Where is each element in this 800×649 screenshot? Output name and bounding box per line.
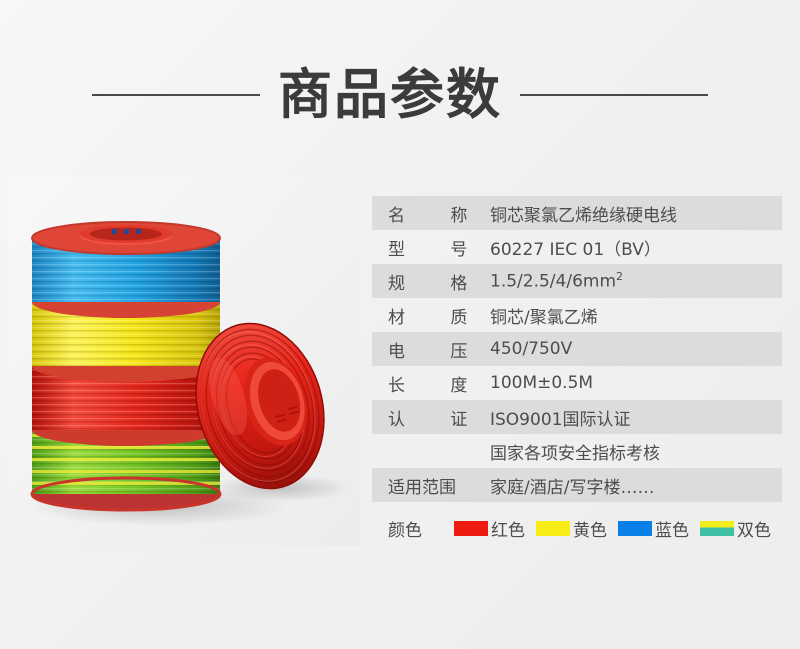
spec-label-model: 型 号 <box>372 235 490 260</box>
spec-label-material: 材 质 <box>372 303 490 328</box>
table-row: 适用范围 家庭/酒店/写字楼…… <box>372 468 782 502</box>
spec-label-length: 长 度 <box>372 371 490 396</box>
table-row: 国家各项安全指标考核 <box>372 434 782 468</box>
spec-value-name: 铜芯聚氯乙烯绝缘硬电线 <box>490 201 677 226</box>
table-row: 名 称 铜芯聚氯乙烯绝缘硬电线 <box>372 196 782 230</box>
page-title: 商品参数 <box>278 68 502 122</box>
spec-label-certification: 认 证 <box>372 405 490 430</box>
color-option-yellow[interactable]: 黄色 <box>536 516 607 541</box>
spec-value-specification: 1.5/2.5/4/6mm2 <box>490 270 623 292</box>
spec-label-voltage: 电 压 <box>372 337 490 362</box>
table-row: 长 度 100M±0.5M <box>372 366 782 400</box>
spec-value-application-scope: 家庭/酒店/写字楼…… <box>490 473 654 498</box>
color-label-dual: 双色 <box>737 516 771 541</box>
spec-value-certification: ISO9001国际认证 <box>490 405 630 430</box>
table-row: 材 质 铜芯/聚氯乙烯 <box>372 298 782 332</box>
spec-value-model: 60227 IEC 01（BV） <box>490 235 661 260</box>
color-option-red[interactable]: 红色 <box>454 516 525 541</box>
color-label-blue: 蓝色 <box>655 516 689 541</box>
spec-value-voltage: 450/750V <box>490 339 572 359</box>
color-option-blue[interactable]: 蓝色 <box>618 516 689 541</box>
color-label-yellow: 黄色 <box>573 516 607 541</box>
header-rule-left <box>92 94 260 96</box>
coil-blue <box>32 222 220 302</box>
table-row: 认 证 ISO9001国际认证 <box>372 400 782 434</box>
color-swatch-yellow <box>536 521 570 536</box>
spec-label-name: 名 称 <box>372 201 490 226</box>
color-label-red: 红色 <box>491 516 525 541</box>
spec-label-specification: 规 格 <box>372 269 490 294</box>
wire-coils-illustration <box>8 176 360 546</box>
color-swatch-blue <box>618 521 652 536</box>
product-parameters-page: 商品参数 <box>0 0 800 649</box>
color-swatch-red <box>454 521 488 536</box>
spec-label-application-scope: 适用范围 <box>372 473 490 498</box>
color-swatch-dual <box>700 521 734 536</box>
spec-value-certification-continued: 国家各项安全指标考核 <box>490 439 660 464</box>
product-image <box>8 176 360 546</box>
color-option-dual[interactable]: 双色 <box>700 516 771 541</box>
page-header: 商品参数 <box>0 58 800 132</box>
spec-value-material: 铜芯/聚氯乙烯 <box>490 303 598 328</box>
color-row: 颜色 红色 黄色 蓝色 双色 <box>372 508 782 548</box>
spec-label-color: 颜色 <box>372 516 454 541</box>
spec-table: 名 称 铜芯聚氯乙烯绝缘硬电线 型 号 60227 IEC 01（BV） 规 格… <box>372 196 782 548</box>
table-row: 型 号 60227 IEC 01（BV） <box>372 230 782 264</box>
spec-value-length: 100M±0.5M <box>490 373 593 393</box>
table-row: 电 压 450/750V <box>372 332 782 366</box>
table-row: 规 格 1.5/2.5/4/6mm2 <box>372 264 782 298</box>
header-rule-right <box>520 94 708 96</box>
